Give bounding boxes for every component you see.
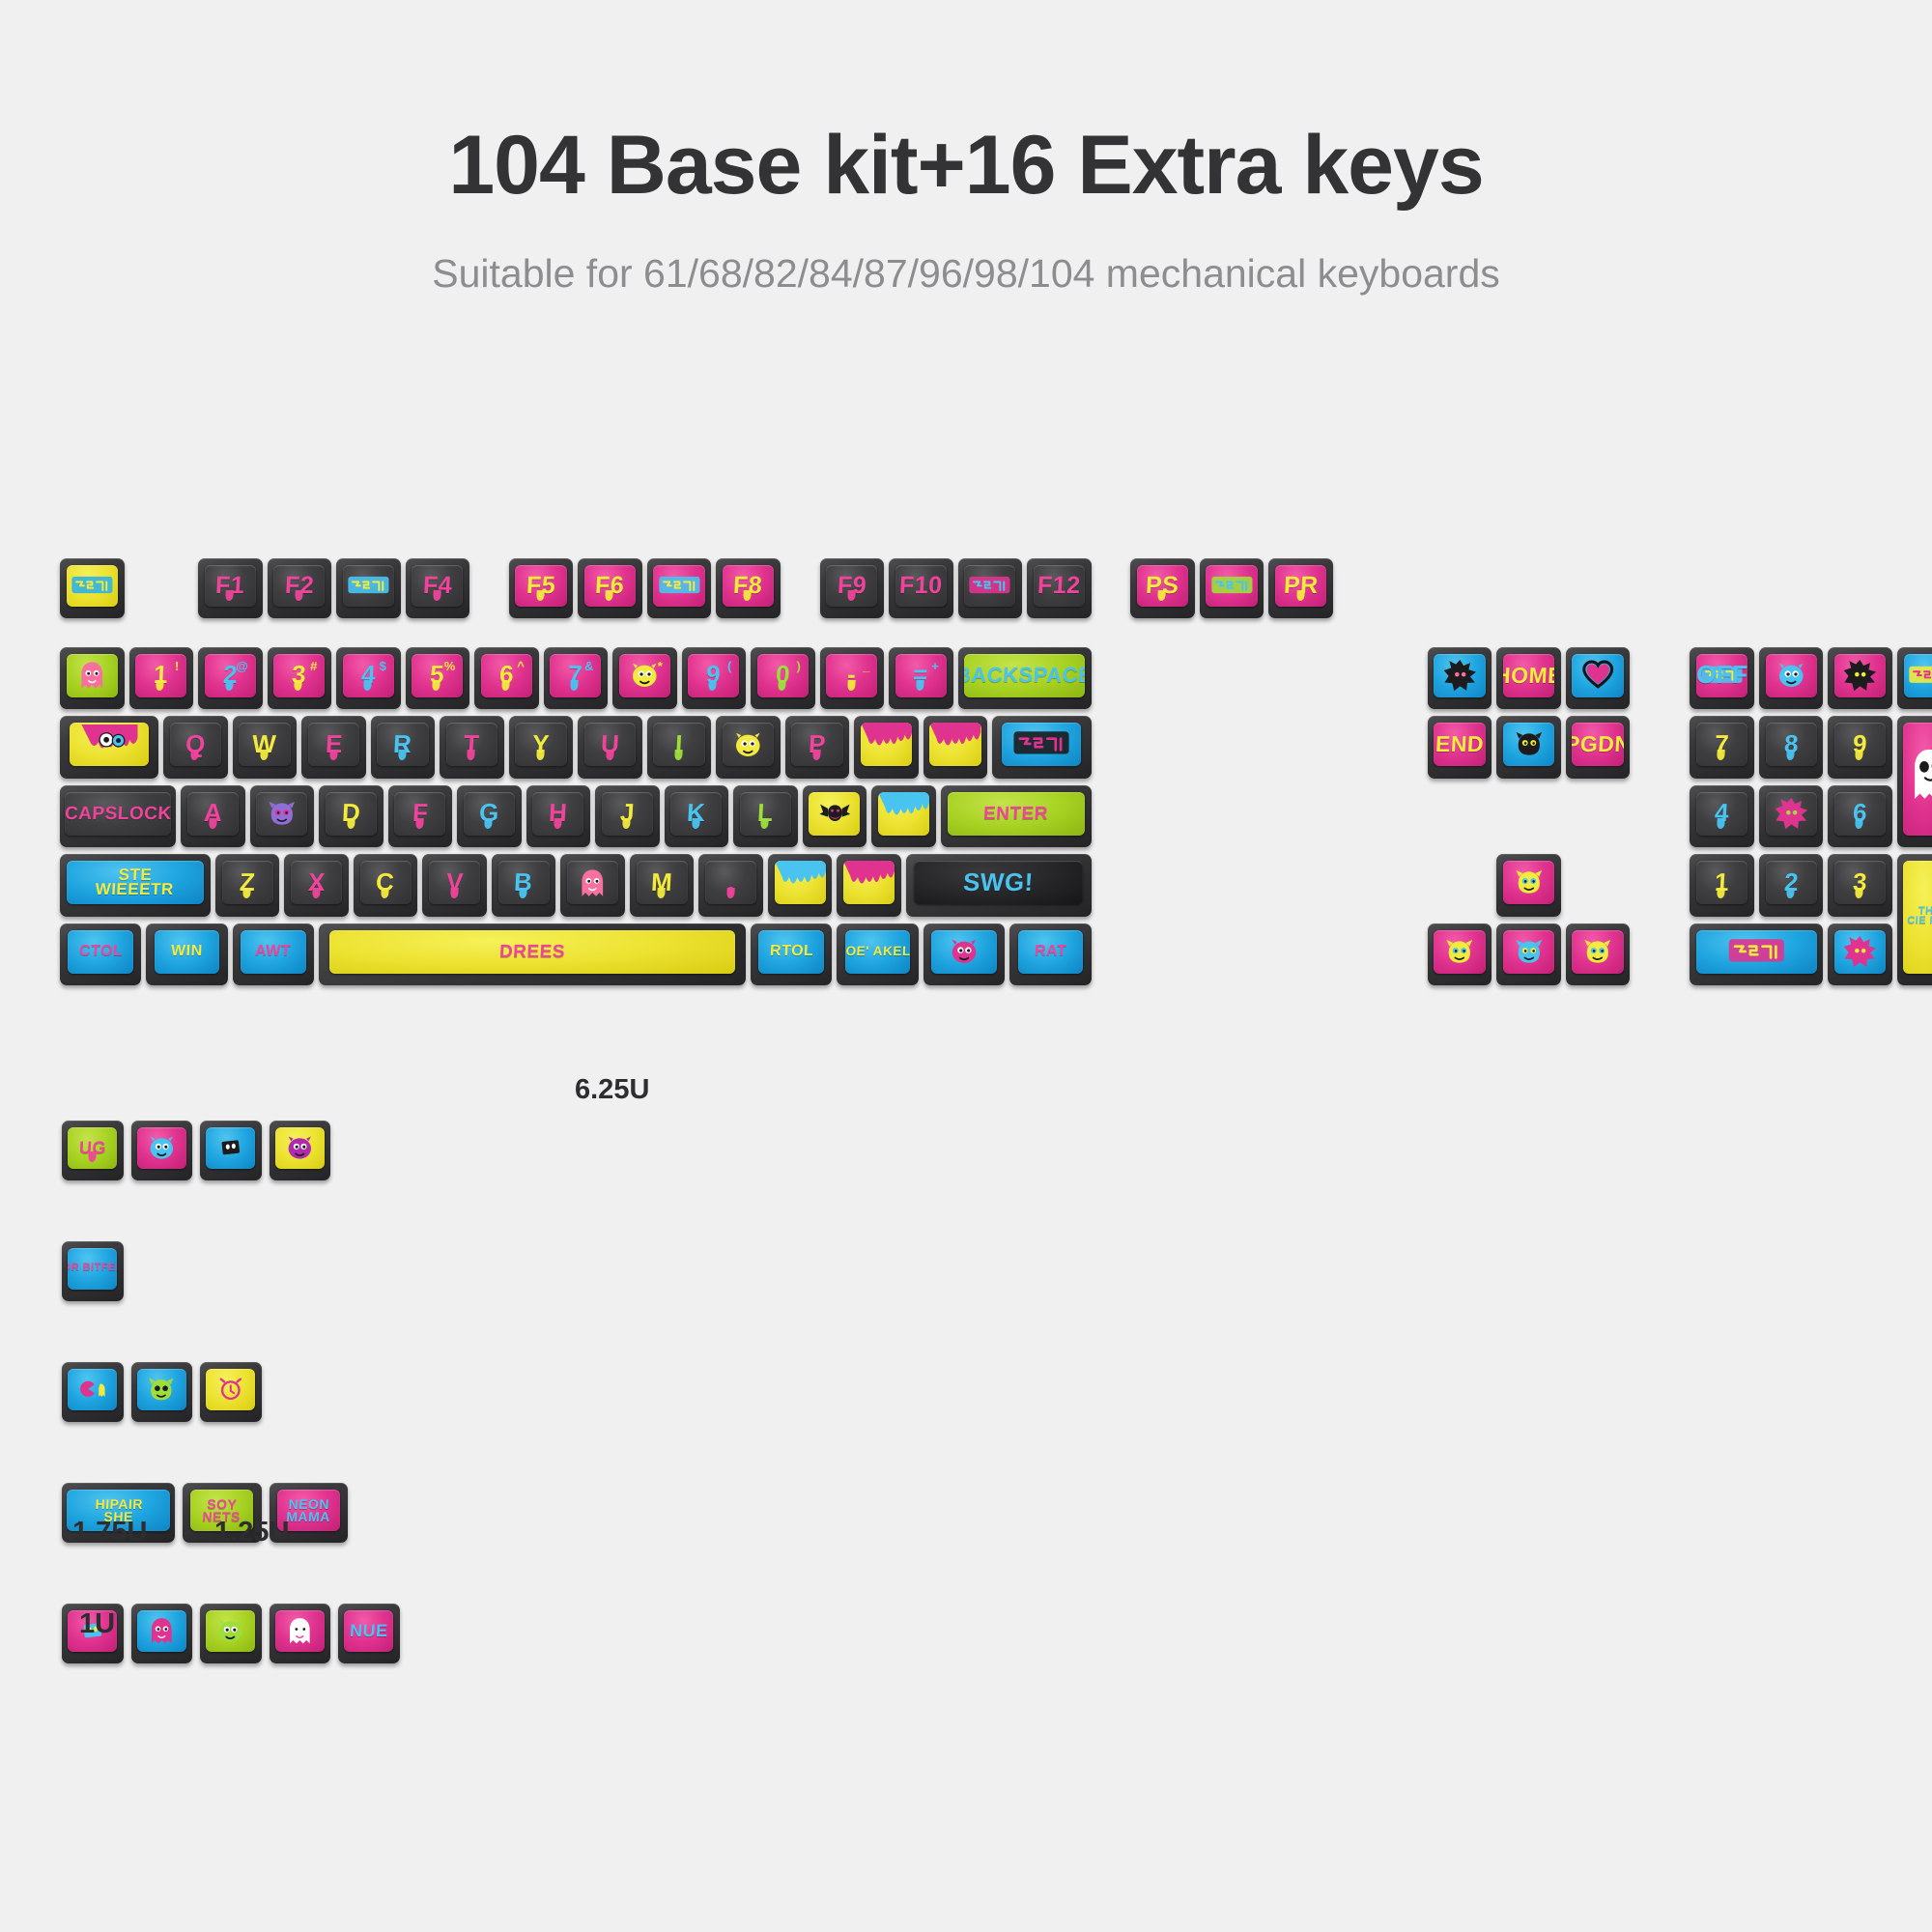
keycap-surface: [1002, 723, 1081, 766]
keycap-surface: C: [360, 861, 412, 904]
keycap-t[interactable]: T: [440, 716, 504, 779]
keycap-surface: 9: [1834, 723, 1886, 766]
keycap-surface: 7&: [550, 654, 601, 697]
keycap-f1[interactable]: F1: [198, 558, 263, 618]
keycap-ex-13[interactable]: [131, 1604, 193, 1663]
keycap-shift-legend: *: [658, 659, 663, 673]
keycap-w[interactable]: W: [233, 716, 298, 779]
keycap-o[interactable]: [716, 716, 781, 779]
keycap-end[interactable]: END: [1428, 716, 1492, 779]
keycap-shift-legend: ^: [517, 659, 525, 673]
keycap-legend: CAPSLOCK: [65, 806, 170, 822]
keycap-surface: F12: [1034, 565, 1085, 607]
keycap-surface: DREES: [329, 930, 735, 974]
blue-monster-graffiti-icon: [343, 565, 394, 607]
keycap-legend: STE WIEEETR: [82, 867, 189, 897]
keycap-surface: *: [619, 654, 670, 697]
keycap-surface: WIN: [155, 930, 220, 974]
keycap-7[interactable]: 7&: [544, 647, 609, 710]
keycap-npplus[interactable]: [1897, 716, 1932, 847]
keycap-backspace[interactable]: BACKSPACE: [958, 647, 1092, 710]
keycap-surface: [1434, 930, 1485, 974]
pink-ghost-small-icon: [567, 861, 618, 904]
keycap-surface: D: [326, 792, 377, 836]
keycap-comma[interactable]: ,: [698, 854, 763, 917]
keycap-shift-legend: #: [310, 659, 317, 673]
keycap-f2[interactable]: F2: [268, 558, 332, 618]
keycap-s[interactable]: [250, 785, 315, 848]
keycap-f9[interactable]: F9: [820, 558, 885, 618]
keycap-surface: [843, 861, 895, 904]
keycap-arrow-up[interactable]: [1496, 854, 1561, 917]
keycap-surface: F: [394, 792, 445, 836]
unit-label-1u: 1U: [79, 1608, 115, 1640]
pink-pacman-pair-icon: [68, 1369, 117, 1410]
keycap-surface: [275, 1610, 325, 1652]
keycap-surface: I: [653, 723, 704, 766]
keycap-surface: [1766, 654, 1817, 697]
keycap-legend: 7: [1715, 733, 1730, 755]
keycap-legend: CTOL: [78, 945, 123, 958]
keycap-ex-2[interactable]: [131, 1121, 193, 1180]
keycap-surface: [929, 723, 980, 766]
black-ghost-splat-icon: [1834, 654, 1886, 697]
keycap-surface: A: [187, 792, 239, 836]
keycap-home[interactable]: HOME: [1496, 647, 1561, 710]
keycap-np0[interactable]: [1690, 923, 1823, 986]
keycap-legend: G: [478, 802, 499, 824]
keycap-legend: X: [307, 871, 326, 894]
keycap-surface: 1: [1696, 861, 1747, 904]
unit-label-spacebar: 6.25U: [575, 1074, 649, 1106]
keycap-surface: 7: [1696, 723, 1747, 766]
keycap-p[interactable]: P: [785, 716, 850, 779]
keycap-f8[interactable]: F8: [716, 558, 781, 618]
keycap-surface: [256, 792, 307, 836]
keycap-4[interactable]: 4$: [336, 647, 401, 710]
keycap-surface: [653, 565, 704, 607]
keycap-surface: [1834, 930, 1886, 974]
keycap-backslash[interactable]: [992, 716, 1091, 779]
keycap-space[interactable]: DREES: [319, 923, 746, 986]
keycap-surface: 8: [1766, 723, 1817, 766]
keycap-surface: F4: [412, 565, 463, 607]
keycap-surface: BACKSPACE: [964, 654, 1086, 697]
keycap-0[interactable]: 0): [751, 647, 815, 710]
keycap-fn[interactable]: SOE' AKELY: [837, 923, 918, 986]
keycap-rshift[interactable]: SWG!: [906, 854, 1092, 917]
keycap-legend: PR: [1283, 575, 1319, 597]
blue-skull-drip-icon: [67, 565, 118, 607]
keycap-slash[interactable]: [837, 854, 901, 917]
keycap-legend: B: [514, 871, 534, 894]
keycap-semicolon[interactable]: [803, 785, 867, 848]
green-wefg-tag-icon: [1206, 565, 1257, 607]
keycap-shift-legend: +: [931, 659, 939, 673]
yellow-tag-icon: [1904, 654, 1932, 697]
keycap-surface: [67, 654, 118, 697]
heart-icon: [1572, 654, 1623, 697]
keycap-surface: [878, 792, 929, 836]
keycap-legend: 0: [775, 664, 790, 686]
keycap-surface: Q: [170, 723, 221, 766]
keycap-pagedown[interactable]: PGDN: [1566, 716, 1631, 779]
keycap-a[interactable]: A: [181, 785, 245, 848]
keycap-surface: Y: [515, 723, 566, 766]
keycap-arrow-left[interactable]: [1428, 923, 1492, 986]
keycap-surface: [343, 565, 394, 607]
keycap-surface: M: [637, 861, 688, 904]
keycap-surface: L: [740, 792, 791, 836]
keycap-legend: 7: [568, 664, 583, 686]
keycap-ex-4[interactable]: [270, 1121, 331, 1180]
keycap-l[interactable]: L: [733, 785, 798, 848]
keycap-f6[interactable]: F6: [578, 558, 642, 618]
green-slime-icon: [206, 1610, 255, 1652]
pink-yellow-splat-icon: [1834, 930, 1886, 974]
keycap-ex-8[interactable]: [200, 1362, 262, 1422]
keycap-v[interactable]: V: [422, 854, 487, 917]
keycap-ex-6[interactable]: [62, 1362, 124, 1422]
keycap-surface: F9: [826, 565, 877, 607]
keycap-legend: Z: [239, 871, 256, 894]
keycap-1[interactable]: 1!: [129, 647, 194, 710]
keycap-surface: [67, 565, 118, 607]
keycap-legend: 5: [430, 664, 445, 686]
keycap-surface: THE CIE MIG: [1903, 861, 1932, 974]
pink-bat-icon: [809, 792, 860, 836]
keycap-legend: THE CIE MIG: [1906, 907, 1932, 926]
keycap-shift-legend: &: [584, 659, 593, 673]
keycap-3[interactable]: 3#: [268, 647, 332, 710]
keycap-pageup[interactable]: [1566, 647, 1631, 710]
keycap-2[interactable]: 2@: [198, 647, 263, 710]
keycap-legend: E: [325, 733, 343, 755]
keycap-legend: 3: [292, 664, 307, 686]
keycap-m[interactable]: M: [630, 854, 695, 917]
keycap-np5[interactable]: [1759, 785, 1824, 848]
keycap-f5[interactable]: F5: [509, 558, 574, 618]
keycap-legend: ,: [726, 871, 735, 894]
keycap-legend: PGDN: [1572, 734, 1623, 754]
keycap-legend: H: [549, 802, 569, 824]
keycap-surface: RAT: [1018, 930, 1084, 974]
keycap-legend: =: [913, 664, 929, 686]
keycap-f7[interactable]: [647, 558, 712, 618]
keycap-legend: -: [847, 664, 857, 686]
keycap-surface: 4$: [343, 654, 394, 697]
green-creature-icon: [137, 1369, 186, 1410]
eyeballs-drip-icon: [70, 723, 149, 766]
pink-drip-top-icon: [843, 861, 895, 904]
white-ghost-small-icon: [275, 1610, 325, 1652]
keycap-rbracket[interactable]: [923, 716, 988, 779]
keycap-capslock[interactable]: CAPSLOCK: [60, 785, 176, 848]
horned-monster-icon: [256, 792, 307, 836]
keycap-legend: WIN: [171, 945, 203, 958]
keycap-legend: BACKSPACE: [964, 666, 1086, 685]
blue-ghost-face-icon: [1503, 930, 1554, 974]
keycap-surface: RTOL: [758, 930, 824, 974]
pink-ghost-icon: [67, 654, 118, 697]
keycap-legend: F: [412, 802, 429, 824]
keycap-surface: 1!: [135, 654, 186, 697]
keycap-surface: J: [602, 792, 653, 836]
keycap-np6[interactable]: 6: [1828, 785, 1892, 848]
keycap-legend: A: [203, 802, 223, 824]
keycap-ex-15[interactable]: [270, 1604, 331, 1663]
keycap-legend: Y: [531, 733, 550, 755]
keycap-6[interactable]: 6^: [474, 647, 539, 710]
blue-drip-top-icon: [878, 792, 929, 836]
keycap-q[interactable]: Q: [163, 716, 228, 779]
keycap-surface: CAPSLOCK: [65, 792, 170, 836]
keycap-legend: J: [619, 802, 635, 824]
keycap-npenter[interactable]: THE CIE MIG: [1897, 854, 1932, 985]
keycap-surface: H: [532, 792, 583, 836]
keycap-surface: [964, 565, 1015, 607]
keycap-surface: [1904, 654, 1932, 697]
keycap-surface: 3: [1834, 861, 1886, 904]
keycap-rctrl[interactable]: RAT: [1009, 923, 1091, 986]
keycap-np-art2[interactable]: [1759, 647, 1824, 710]
keycap-legend: 2: [222, 664, 238, 686]
keycap-surface: F6: [584, 565, 636, 607]
keycap-legend: OFF: [1696, 664, 1747, 686]
keycap-surface: T: [446, 723, 497, 766]
keycap-np4[interactable]: 4: [1690, 785, 1754, 848]
keycap-legend: M: [650, 871, 672, 894]
keycap-surface: [137, 1127, 186, 1169]
keycap-z[interactable]: Z: [215, 854, 280, 917]
keycap-legend: F6: [595, 575, 625, 597]
keycap-arrow-right[interactable]: [1566, 923, 1631, 986]
pink-blob-monster-icon: [964, 565, 1015, 607]
keycap-surface: 4: [1696, 792, 1747, 836]
keycap-quote[interactable]: [871, 785, 936, 848]
keycap-f12[interactable]: F12: [1027, 558, 1092, 618]
keycap-ex-16[interactable]: NUE: [338, 1604, 400, 1663]
keycap-np-art3[interactable]: [1828, 647, 1892, 710]
keycap-surface: AWT: [241, 930, 306, 974]
keycap-surface: [1503, 861, 1554, 904]
keycap-u[interactable]: U: [578, 716, 642, 779]
keycap-surface: [1572, 654, 1623, 697]
keycap-f[interactable]: F: [388, 785, 453, 848]
keycap-k[interactable]: K: [665, 785, 729, 848]
keycap-legend: SOE' AKELY: [845, 946, 911, 957]
keycap-surface: X: [291, 861, 342, 904]
keycap-np1[interactable]: 1: [1690, 854, 1754, 917]
keycap-enter[interactable]: ENTER: [941, 785, 1092, 848]
keycap-np-art4[interactable]: [1897, 647, 1932, 710]
keycap-ex-7[interactable]: [131, 1362, 193, 1422]
keycap-surface: [1503, 930, 1554, 974]
keycap-legend: HIPAIR SHE: [78, 1498, 158, 1522]
keycap-surface: 2@: [205, 654, 256, 697]
keycap-lwin[interactable]: WIN: [146, 923, 227, 986]
keycap-surface: [206, 1369, 255, 1410]
keycap-surface: [861, 723, 912, 766]
keycap-legend: L: [757, 802, 775, 824]
keycap-surface: Z: [222, 861, 273, 904]
keycap-legend: 4: [360, 664, 376, 686]
keycap-shift-legend: ): [797, 659, 801, 673]
keycap-b[interactable]: B: [492, 854, 556, 917]
black-splat-eyes-icon: [1434, 654, 1485, 697]
keycap-npdot[interactable]: [1828, 923, 1892, 986]
keycap-rwin[interactable]: [923, 923, 1005, 986]
keycap-np9[interactable]: 9: [1828, 716, 1892, 779]
keycap-surface: [68, 1369, 117, 1410]
keycap-legend: AOR BITFELE: [68, 1264, 117, 1273]
keycap-np-art1[interactable]: OFF: [1690, 647, 1754, 710]
keycap-surface: NUE: [344, 1610, 393, 1652]
blue-tag-graffiti-icon: [653, 565, 704, 607]
keycap-legend: 2: [1783, 871, 1799, 894]
pink-alien-icon: [931, 930, 997, 974]
keycap-legend: 1: [1715, 871, 1730, 894]
keycap-surface: R: [377, 723, 428, 766]
keycap-scrolllock[interactable]: [1200, 558, 1264, 618]
keycap-legend: P: [808, 733, 826, 755]
keycap-y[interactable]: Y: [509, 716, 574, 779]
page-header: 104 Base kit+16 Extra keys Suitable for …: [0, 0, 1932, 297]
keycap-legend: AWT: [255, 945, 292, 958]
keycap-arrow-down[interactable]: [1496, 923, 1561, 986]
keycap-lbracket[interactable]: [854, 716, 919, 779]
keycap-f3[interactable]: [336, 558, 401, 618]
keycap-pause[interactable]: PR: [1268, 558, 1333, 618]
yellow-face-right-icon: [1572, 930, 1623, 974]
keycap-surface: [206, 1610, 255, 1652]
keycap-9[interactable]: 9(: [682, 647, 747, 710]
keycap-c[interactable]: C: [354, 854, 418, 917]
keycap-surface: [723, 723, 774, 766]
keycap-surface: [1503, 723, 1554, 766]
keycap-legend: F1: [215, 575, 245, 597]
keycap-surface: 5%: [412, 654, 463, 697]
keycap-surface: W: [239, 723, 290, 766]
keycap-ex-3[interactable]: [200, 1121, 262, 1180]
keycap-legend: F5: [526, 575, 555, 597]
keycap-period[interactable]: [768, 854, 833, 917]
keycap-printscreen[interactable]: PS: [1130, 558, 1195, 618]
keycap-x[interactable]: X: [284, 854, 349, 917]
keycap-ralt[interactable]: RTOL: [751, 923, 832, 986]
keycap-legend: SWG!: [963, 871, 1035, 894]
keycap-8[interactable]: *: [612, 647, 677, 710]
keycap-i[interactable]: I: [647, 716, 712, 779]
keycap-surface: STE WIEEETR: [67, 861, 204, 904]
yellow-horned-face-icon: [1503, 861, 1554, 904]
blue-sad-face-icon: [137, 1127, 186, 1169]
keycap-minus[interactable]: -_: [820, 647, 885, 710]
keycap-legend: 8: [1783, 733, 1799, 755]
keycap-surface: PS: [1137, 565, 1188, 607]
keycap-n[interactable]: [560, 854, 625, 917]
keycap-esc[interactable]: [60, 558, 125, 618]
keycap-legend: I: [675, 733, 684, 755]
keycap-surface: [1206, 565, 1257, 607]
keycap-nav-blue-monster[interactable]: [1496, 716, 1561, 779]
keycap-legend: DREES: [499, 944, 566, 960]
keycap-tab[interactable]: [60, 716, 158, 779]
keycap-surface: [567, 861, 618, 904]
keycap-surface: -_: [826, 654, 877, 697]
keycap-np8[interactable]: 8: [1759, 716, 1824, 779]
pink-drip-top-icon: [929, 723, 980, 766]
keycap-ex-14[interactable]: [200, 1604, 262, 1663]
keycap-legend: Q: [185, 733, 207, 755]
keycap-surface: [1696, 930, 1818, 974]
keycap-legend: RAT: [1034, 945, 1066, 958]
keycap-ex-1[interactable]: UG: [62, 1121, 124, 1180]
keycap-legend: F8: [733, 575, 763, 597]
keycap-shift-legend: $: [380, 659, 386, 673]
keycap-surface: [931, 930, 997, 974]
keycap-surface: 6: [1834, 792, 1886, 836]
keycap-surface: F8: [723, 565, 774, 607]
keycap-surface: F5: [515, 565, 566, 607]
keycap-h[interactable]: H: [526, 785, 591, 848]
keycap-f10[interactable]: F10: [889, 558, 953, 618]
keycap-surface: B: [498, 861, 550, 904]
keycap-ex-5[interactable]: AOR BITFELE: [62, 1241, 124, 1301]
keycap-legend: T: [464, 733, 481, 755]
keycap-surface: [275, 1127, 325, 1169]
keycap-lshift[interactable]: STE WIEEETR: [60, 854, 211, 917]
keycap-e[interactable]: E: [301, 716, 366, 779]
keycap-5[interactable]: 5%: [406, 647, 470, 710]
keycap-legend: 6: [1853, 802, 1868, 824]
keycap-surface: [1572, 930, 1623, 974]
keycap-j[interactable]: J: [595, 785, 660, 848]
keycap-d[interactable]: D: [319, 785, 384, 848]
keycap-surface: [1766, 792, 1817, 836]
keycap-np3[interactable]: 3: [1828, 854, 1892, 917]
yellow-cyclops-icon: [723, 723, 774, 766]
keycap-lalt[interactable]: AWT: [233, 923, 314, 986]
keycap-surface: =+: [895, 654, 947, 697]
keycap-surface: [1903, 723, 1932, 836]
keycap-backtick[interactable]: [60, 647, 125, 710]
keycap-g[interactable]: G: [457, 785, 522, 848]
keycap-f11[interactable]: [958, 558, 1023, 618]
keycap-legend: 4: [1715, 802, 1730, 824]
keycap-legend: SOY NETS: [194, 1498, 250, 1522]
keycap-surface: 2: [1766, 861, 1817, 904]
keycap-f4[interactable]: F4: [406, 558, 470, 618]
keycap-legend: D: [341, 802, 361, 824]
keycap-insert[interactable]: [1428, 647, 1492, 710]
keycap-surface: [1834, 654, 1886, 697]
keycap-np2[interactable]: 2: [1759, 854, 1824, 917]
pink-drip-top-icon: [861, 723, 912, 766]
keycap-equal[interactable]: =+: [889, 647, 953, 710]
pink-alarm-clock-icon: [206, 1369, 255, 1410]
keycap-lctrl[interactable]: CTOL: [60, 923, 141, 986]
keycap-shift-legend: _: [863, 659, 869, 673]
keycap-legend: K: [687, 802, 707, 824]
keycap-surface: K: [670, 792, 722, 836]
keycap-surface: [809, 792, 860, 836]
keycap-np7[interactable]: 7: [1690, 716, 1754, 779]
pink-eyes-tag-icon: [1696, 930, 1818, 974]
black-creature-icon: [1503, 723, 1554, 766]
keycap-legend: NEON MAMA: [280, 1498, 336, 1522]
keycap-r[interactable]: R: [371, 716, 436, 779]
